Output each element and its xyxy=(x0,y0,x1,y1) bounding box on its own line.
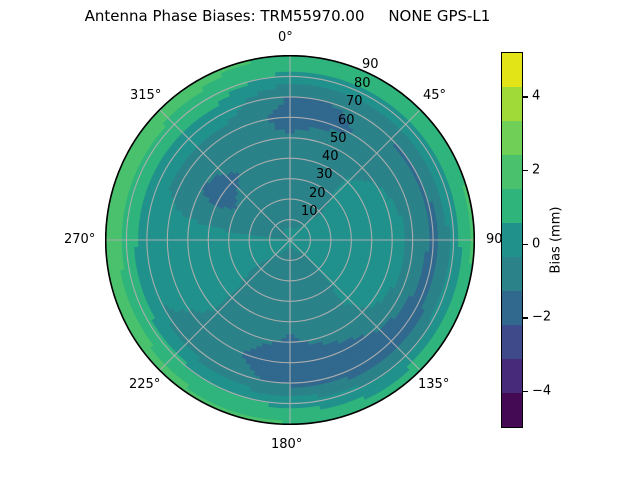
figure-canvas: Antenna Phase Biases: TRM55970.00 NONE G… xyxy=(0,0,640,480)
page-title: Antenna Phase Biases: TRM55970.00 NONE G… xyxy=(0,7,575,25)
polar-plot-area xyxy=(105,55,475,425)
polar-contour-svg xyxy=(105,55,475,425)
